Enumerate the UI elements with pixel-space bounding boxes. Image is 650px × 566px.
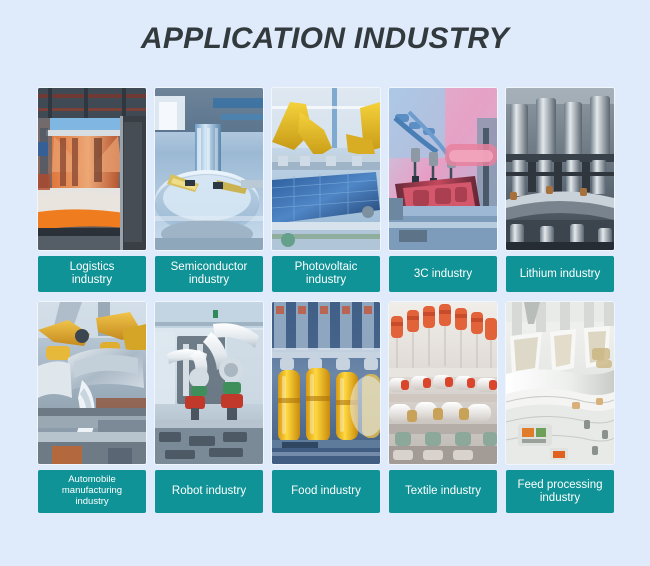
- industry-label-photovoltaic: Photovoltaic industry: [272, 256, 380, 292]
- food-industry-image: [272, 302, 380, 464]
- industry-label-3c: 3C industry: [389, 256, 497, 292]
- industry-card-3c[interactable]: 3C industry: [389, 88, 497, 292]
- industry-label-food: Food industry: [272, 470, 380, 513]
- industry-card-robot[interactable]: Robot industry: [155, 302, 263, 513]
- semiconductor-industry-image: [155, 88, 263, 250]
- label-line: industry: [171, 274, 248, 287]
- textile-industry-image: [389, 302, 497, 464]
- label-line: Robot industry: [172, 485, 246, 498]
- industry-label-semiconductor: Semiconductor industry: [155, 256, 263, 292]
- automobile-manufacturing-industry-image: [38, 302, 146, 464]
- industry-label-lithium: Lithium industry: [506, 256, 614, 292]
- label-line: industry: [295, 274, 358, 287]
- application-industry-page: APPLICATION INDUSTRY: [0, 0, 650, 566]
- page-title: APPLICATION INDUSTRY: [0, 22, 650, 56]
- feed-processing-industry-image: [506, 302, 614, 464]
- label-line: Feed processing: [517, 479, 602, 492]
- industry-label-robot: Robot industry: [155, 470, 263, 513]
- industry-card-textile[interactable]: Textile industry: [389, 302, 497, 513]
- photovoltaic-industry-image: [272, 88, 380, 250]
- industry-card-photovoltaic[interactable]: Photovoltaic industry: [272, 88, 380, 292]
- robot-industry-image: [155, 302, 263, 464]
- label-line: Semiconductor: [171, 261, 248, 274]
- label-line: 3C industry: [414, 268, 472, 281]
- industry-card-automobile[interactable]: Automobile manufacturing industry: [38, 302, 146, 513]
- industry-row-2: Automobile manufacturing industry: [38, 302, 614, 513]
- label-line: industry: [70, 274, 115, 287]
- logistics-industry-image: [38, 88, 146, 250]
- industry-label-feed-processing: Feed processing industry: [506, 470, 614, 513]
- label-line: Lithium industry: [520, 268, 601, 281]
- label-line: industry: [517, 492, 602, 505]
- industry-grid: Logistics industry: [38, 88, 614, 513]
- label-line: Textile industry: [405, 485, 481, 498]
- industry-card-feed-processing[interactable]: Feed processing industry: [506, 302, 614, 513]
- label-line: industry: [62, 497, 122, 508]
- label-line: Food industry: [291, 485, 361, 498]
- label-line: Photovoltaic: [295, 261, 358, 274]
- industry-card-food[interactable]: Food industry: [272, 302, 380, 513]
- industry-label-logistics: Logistics industry: [38, 256, 146, 292]
- industry-card-lithium[interactable]: Lithium industry: [506, 88, 614, 292]
- industry-label-automobile: Automobile manufacturing industry: [38, 470, 146, 513]
- industry-card-semiconductor[interactable]: Semiconductor industry: [155, 88, 263, 292]
- industry-row-1: Logistics industry: [38, 88, 614, 292]
- 3c-industry-image: [389, 88, 497, 250]
- label-line: Logistics: [70, 261, 115, 274]
- industry-label-textile: Textile industry: [389, 470, 497, 513]
- lithium-industry-image: [506, 88, 614, 250]
- industry-card-logistics[interactable]: Logistics industry: [38, 88, 146, 292]
